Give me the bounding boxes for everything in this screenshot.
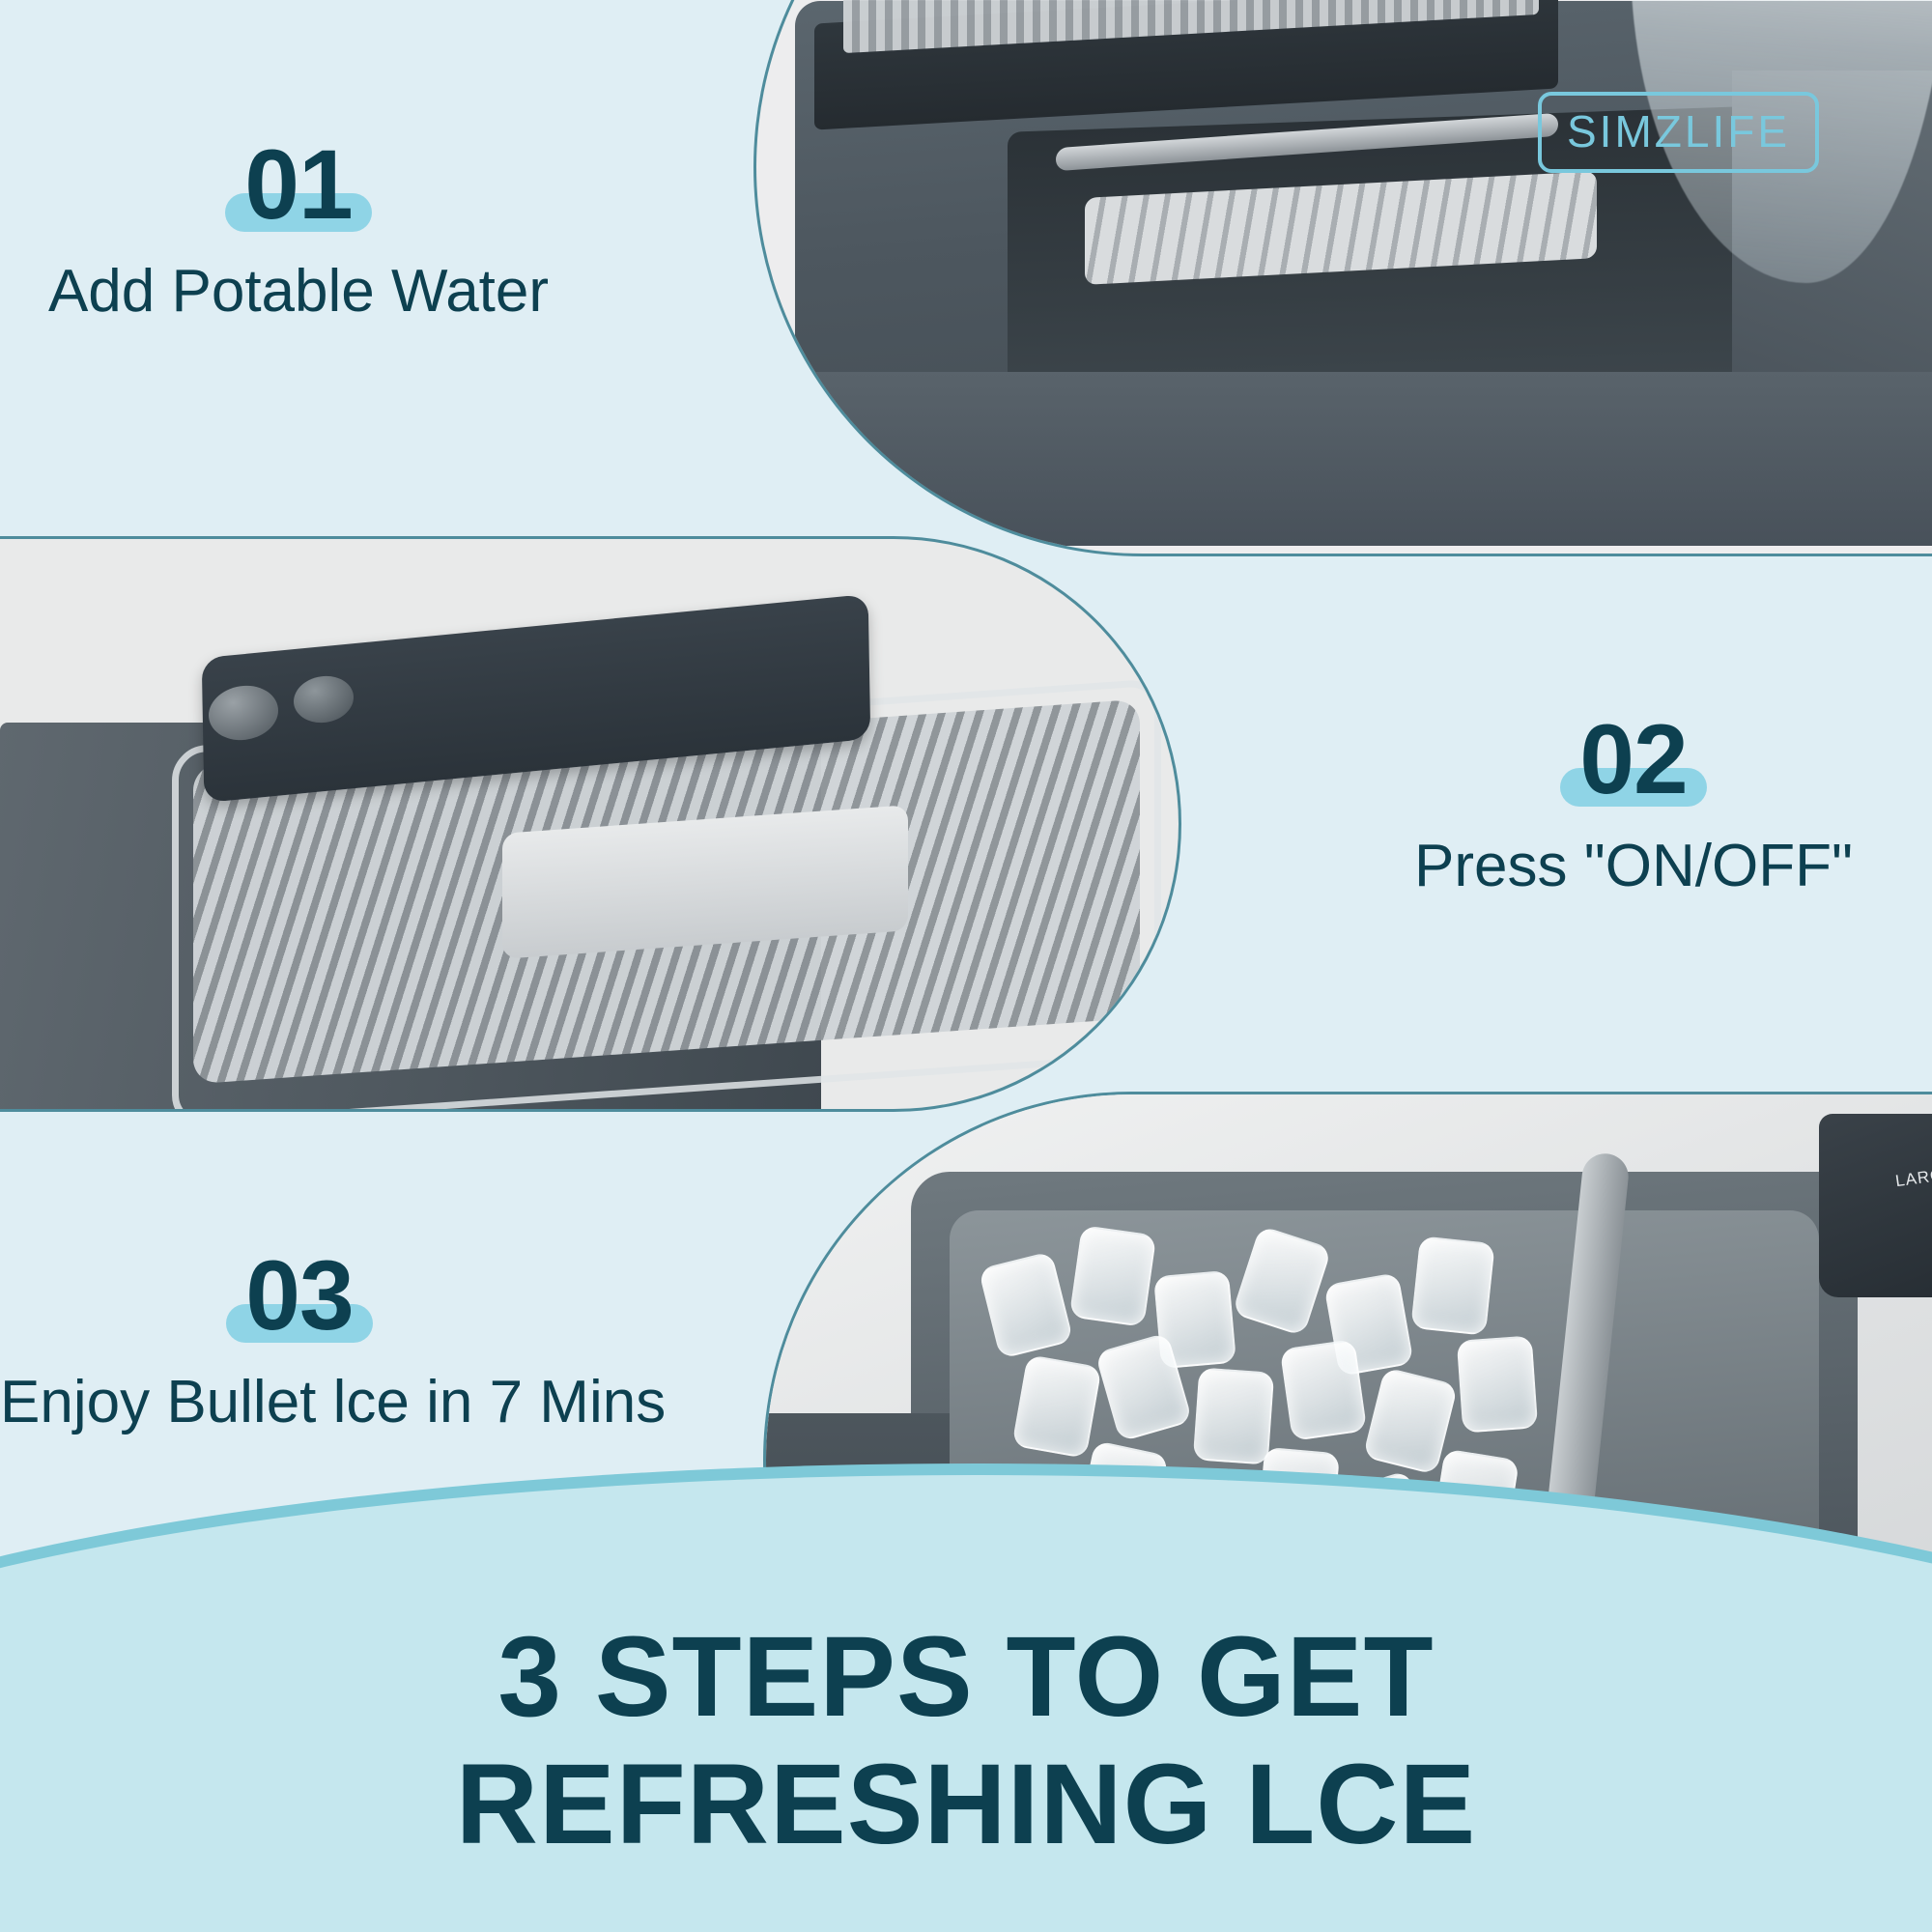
step-2-caption: Press "ON/OFF" <box>1335 834 1932 899</box>
headline: 3 STEPS TO GET REFRESHING LCE <box>0 1613 1932 1868</box>
step-2-photo-inner <box>0 539 1179 1109</box>
step-1-photo <box>753 0 1932 556</box>
headline-line-2: REFRESHING LCE <box>0 1741 1932 1868</box>
ice-cube <box>1193 1367 1275 1464</box>
step-1-number-wrap: 01 <box>244 135 352 234</box>
step-3-text: 03 Enjoy Bullet lce in 7 Mins <box>0 1246 599 1435</box>
ice-cube <box>1069 1225 1157 1327</box>
ice-maker-side-panel: LARGE <box>1819 1114 1932 1297</box>
ice-maker-front-face <box>795 372 1932 546</box>
step-2-photo <box>0 536 1181 1112</box>
size-label: LARGE <box>1894 1164 1932 1192</box>
step-1-caption: Add Potable Water <box>0 259 597 325</box>
step-2-number: 02 <box>1579 710 1687 809</box>
headline-line-1: 3 STEPS TO GET <box>0 1613 1932 1741</box>
ice-cube <box>1457 1335 1539 1433</box>
infographic-canvas: SIMZLIFE <box>0 0 1932 1932</box>
step-1-photo-inner <box>756 0 1932 554</box>
brand-logo: SIMZLIFE <box>1538 92 1819 173</box>
ice-cube <box>1410 1236 1495 1336</box>
step-3-caption: Enjoy Bullet lce in 7 Mins <box>0 1370 599 1435</box>
step-1-number: 01 <box>244 135 352 234</box>
ice-cube <box>1011 1354 1101 1459</box>
step-2-text: 02 Press "ON/OFF" <box>1335 710 1932 899</box>
step-3-number-wrap: 03 <box>245 1246 353 1345</box>
step-1-text: 01 Add Potable Water <box>0 135 597 325</box>
ice-cube <box>1280 1339 1368 1441</box>
step-2-number-wrap: 02 <box>1579 710 1687 809</box>
step-3-number: 03 <box>245 1246 353 1345</box>
